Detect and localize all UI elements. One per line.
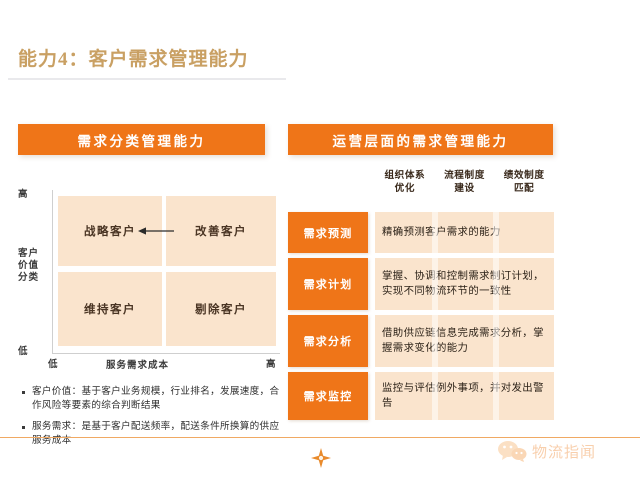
- right-panel-header: 运营层面的需求管理能力: [288, 124, 553, 155]
- row-label-demand-plan: 需求计划: [288, 258, 368, 310]
- column-header-line1: 组织体系: [375, 170, 435, 183]
- x-axis-label: 服务需求成本: [106, 357, 169, 371]
- column-separator: [493, 212, 499, 253]
- column-header-line1: 流程制度: [435, 170, 495, 183]
- column-header-line1: 绩效制度: [494, 170, 554, 183]
- matrix-vertical-axis: [52, 190, 53, 354]
- column-header-performance-system: 绩效制度 匹配: [494, 170, 554, 195]
- y-axis-label: 客户价值分类: [18, 248, 44, 284]
- quadrant-remove-customer: 剔除客户: [166, 272, 276, 346]
- column-separator: [432, 315, 438, 367]
- column-header-line2: 匹配: [494, 183, 554, 196]
- list-item: 服务需求：是基于客户配送频率，配送条件所换算的供应服务成本: [18, 420, 286, 447]
- column-separator: [493, 258, 499, 310]
- x-axis-high-tick: 高: [266, 356, 276, 370]
- bottom-divider: [0, 437, 640, 438]
- table-row: 需求监控 监控与评估例外事项，并对发出警告: [288, 372, 554, 420]
- note-text: 服务需求：是基于客户配送频率，配送条件所换算的供应服务成本: [32, 420, 286, 447]
- column-separator: [493, 372, 499, 420]
- row-text-demand-forecast: 精确预测客户需求的能力: [375, 212, 554, 253]
- table-row: 需求计划 掌握、协调和控制需求制订计划，实现不同物流环节的一致性: [288, 258, 554, 310]
- table-row: 需求分析 借助供应链信息完成需求分析，掌握需求变化的能力: [288, 315, 554, 367]
- column-header-line2: 优化: [375, 183, 435, 196]
- column-separator: [432, 258, 438, 310]
- page-title: 能力4：客户需求管理能力: [18, 44, 249, 71]
- wechat-icon: [497, 440, 527, 462]
- table-row: 需求预测 精确预测客户需求的能力: [288, 212, 554, 253]
- notes-list: 客户价值：基于客户业务规模，行业排名，发展速度，合作风险等要素的综合判断结果 服…: [18, 385, 286, 455]
- demand-management-table: 组织体系 优化 流程制度 建设 绩效制度 匹配 需求预测 精确预测客户需求的能力…: [288, 170, 554, 423]
- four-point-star-icon: [311, 448, 331, 468]
- customer-value-matrix: 高 低 低 高 客户价值分类 服务需求成本 战略客户 改善客户 维持客户 剔除客…: [18, 186, 284, 370]
- table-column-headers: 组织体系 优化 流程制度 建设 绩效制度 匹配: [375, 170, 554, 195]
- column-header-process-system: 流程制度 建设: [435, 170, 495, 195]
- row-text-demand-analysis: 借助供应链信息完成需求分析，掌握需求变化的能力: [375, 315, 554, 367]
- bullet-dot-icon: [22, 426, 25, 429]
- column-header-line2: 建设: [435, 183, 495, 196]
- y-axis-low-tick: 低: [18, 343, 28, 357]
- note-text: 客户价值：基于客户业务规模，行业排名，发展速度，合作风险等要素的综合判断结果: [32, 385, 286, 412]
- bullet-dot-icon: [22, 391, 25, 394]
- row-text-demand-monitor: 监控与评估例外事项，并对发出警告: [375, 372, 554, 420]
- column-separator: [493, 315, 499, 367]
- row-label-demand-analysis: 需求分析: [288, 315, 368, 367]
- quadrant-strategic-customer: 战略客户: [58, 196, 162, 266]
- row-label-demand-forecast: 需求预测: [288, 212, 368, 253]
- y-axis-high-tick: 高: [18, 186, 28, 200]
- title-divider: [8, 78, 286, 80]
- slide-canvas: 能力4：客户需求管理能力 需求分类管理能力 运营层面的需求管理能力 高 低 低 …: [0, 0, 640, 480]
- row-label-demand-monitor: 需求监控: [288, 372, 368, 420]
- x-axis-low-tick: 低: [48, 356, 58, 370]
- quadrant-maintain-customer: 维持客户: [58, 272, 162, 346]
- matrix-horizontal-axis: [52, 353, 280, 354]
- column-header-org-system: 组织体系 优化: [375, 170, 435, 195]
- list-item: 客户价值：基于客户业务规模，行业排名，发展速度，合作风险等要素的综合判断结果: [18, 385, 286, 412]
- watermark-text: 物流指闻: [532, 441, 596, 462]
- left-panel-header: 需求分类管理能力: [18, 124, 265, 155]
- watermark: 物流指闻: [497, 440, 596, 462]
- column-separator: [432, 212, 438, 253]
- quadrant-improve-customer: 改善客户: [166, 196, 276, 266]
- row-text-demand-plan: 掌握、协调和控制需求制订计划，实现不同物流环节的一致性: [375, 258, 554, 310]
- column-separator: [432, 372, 438, 420]
